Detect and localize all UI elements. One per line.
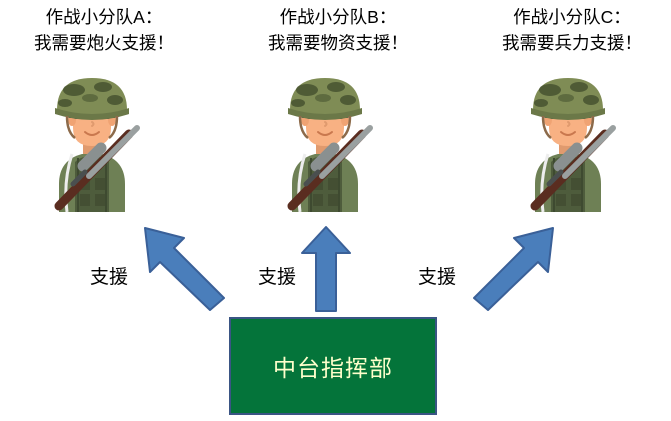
- arrow-up-right-icon: [470, 224, 560, 310]
- squad-title-b: 作战小分队B：: [238, 4, 438, 30]
- squad-caption-c: 作战小分队C： 我需要兵力支援！: [472, 4, 671, 56]
- arrow-up-icon: [300, 224, 352, 314]
- squad-request-b: 我需要物资支援！: [238, 30, 438, 56]
- squad-request-c: 我需要兵力支援！: [472, 30, 671, 56]
- support-label-middle: 支援: [258, 266, 296, 290]
- squad-caption-a: 作战小分队A： 我需要炮火支援！: [4, 4, 204, 56]
- squad-title-a: 作战小分队A：: [4, 4, 204, 30]
- soldier-icon: [270, 74, 380, 212]
- soldier-icon: [513, 74, 623, 212]
- support-label-right: 支援: [418, 266, 456, 290]
- arrow-up-left-icon: [138, 224, 228, 310]
- diagram-canvas: 作战小分队A： 我需要炮火支援！: [0, 0, 671, 421]
- squad-title-c: 作战小分队C：: [472, 4, 671, 30]
- command-center-label: 中台指挥部: [273, 349, 393, 383]
- command-center-box[interactable]: 中台指挥部: [229, 317, 437, 415]
- soldier-icon: [37, 74, 147, 212]
- support-label-left: 支援: [90, 266, 128, 290]
- squad-caption-b: 作战小分队B： 我需要物资支援！: [238, 4, 438, 56]
- squad-request-a: 我需要炮火支援！: [4, 30, 204, 56]
